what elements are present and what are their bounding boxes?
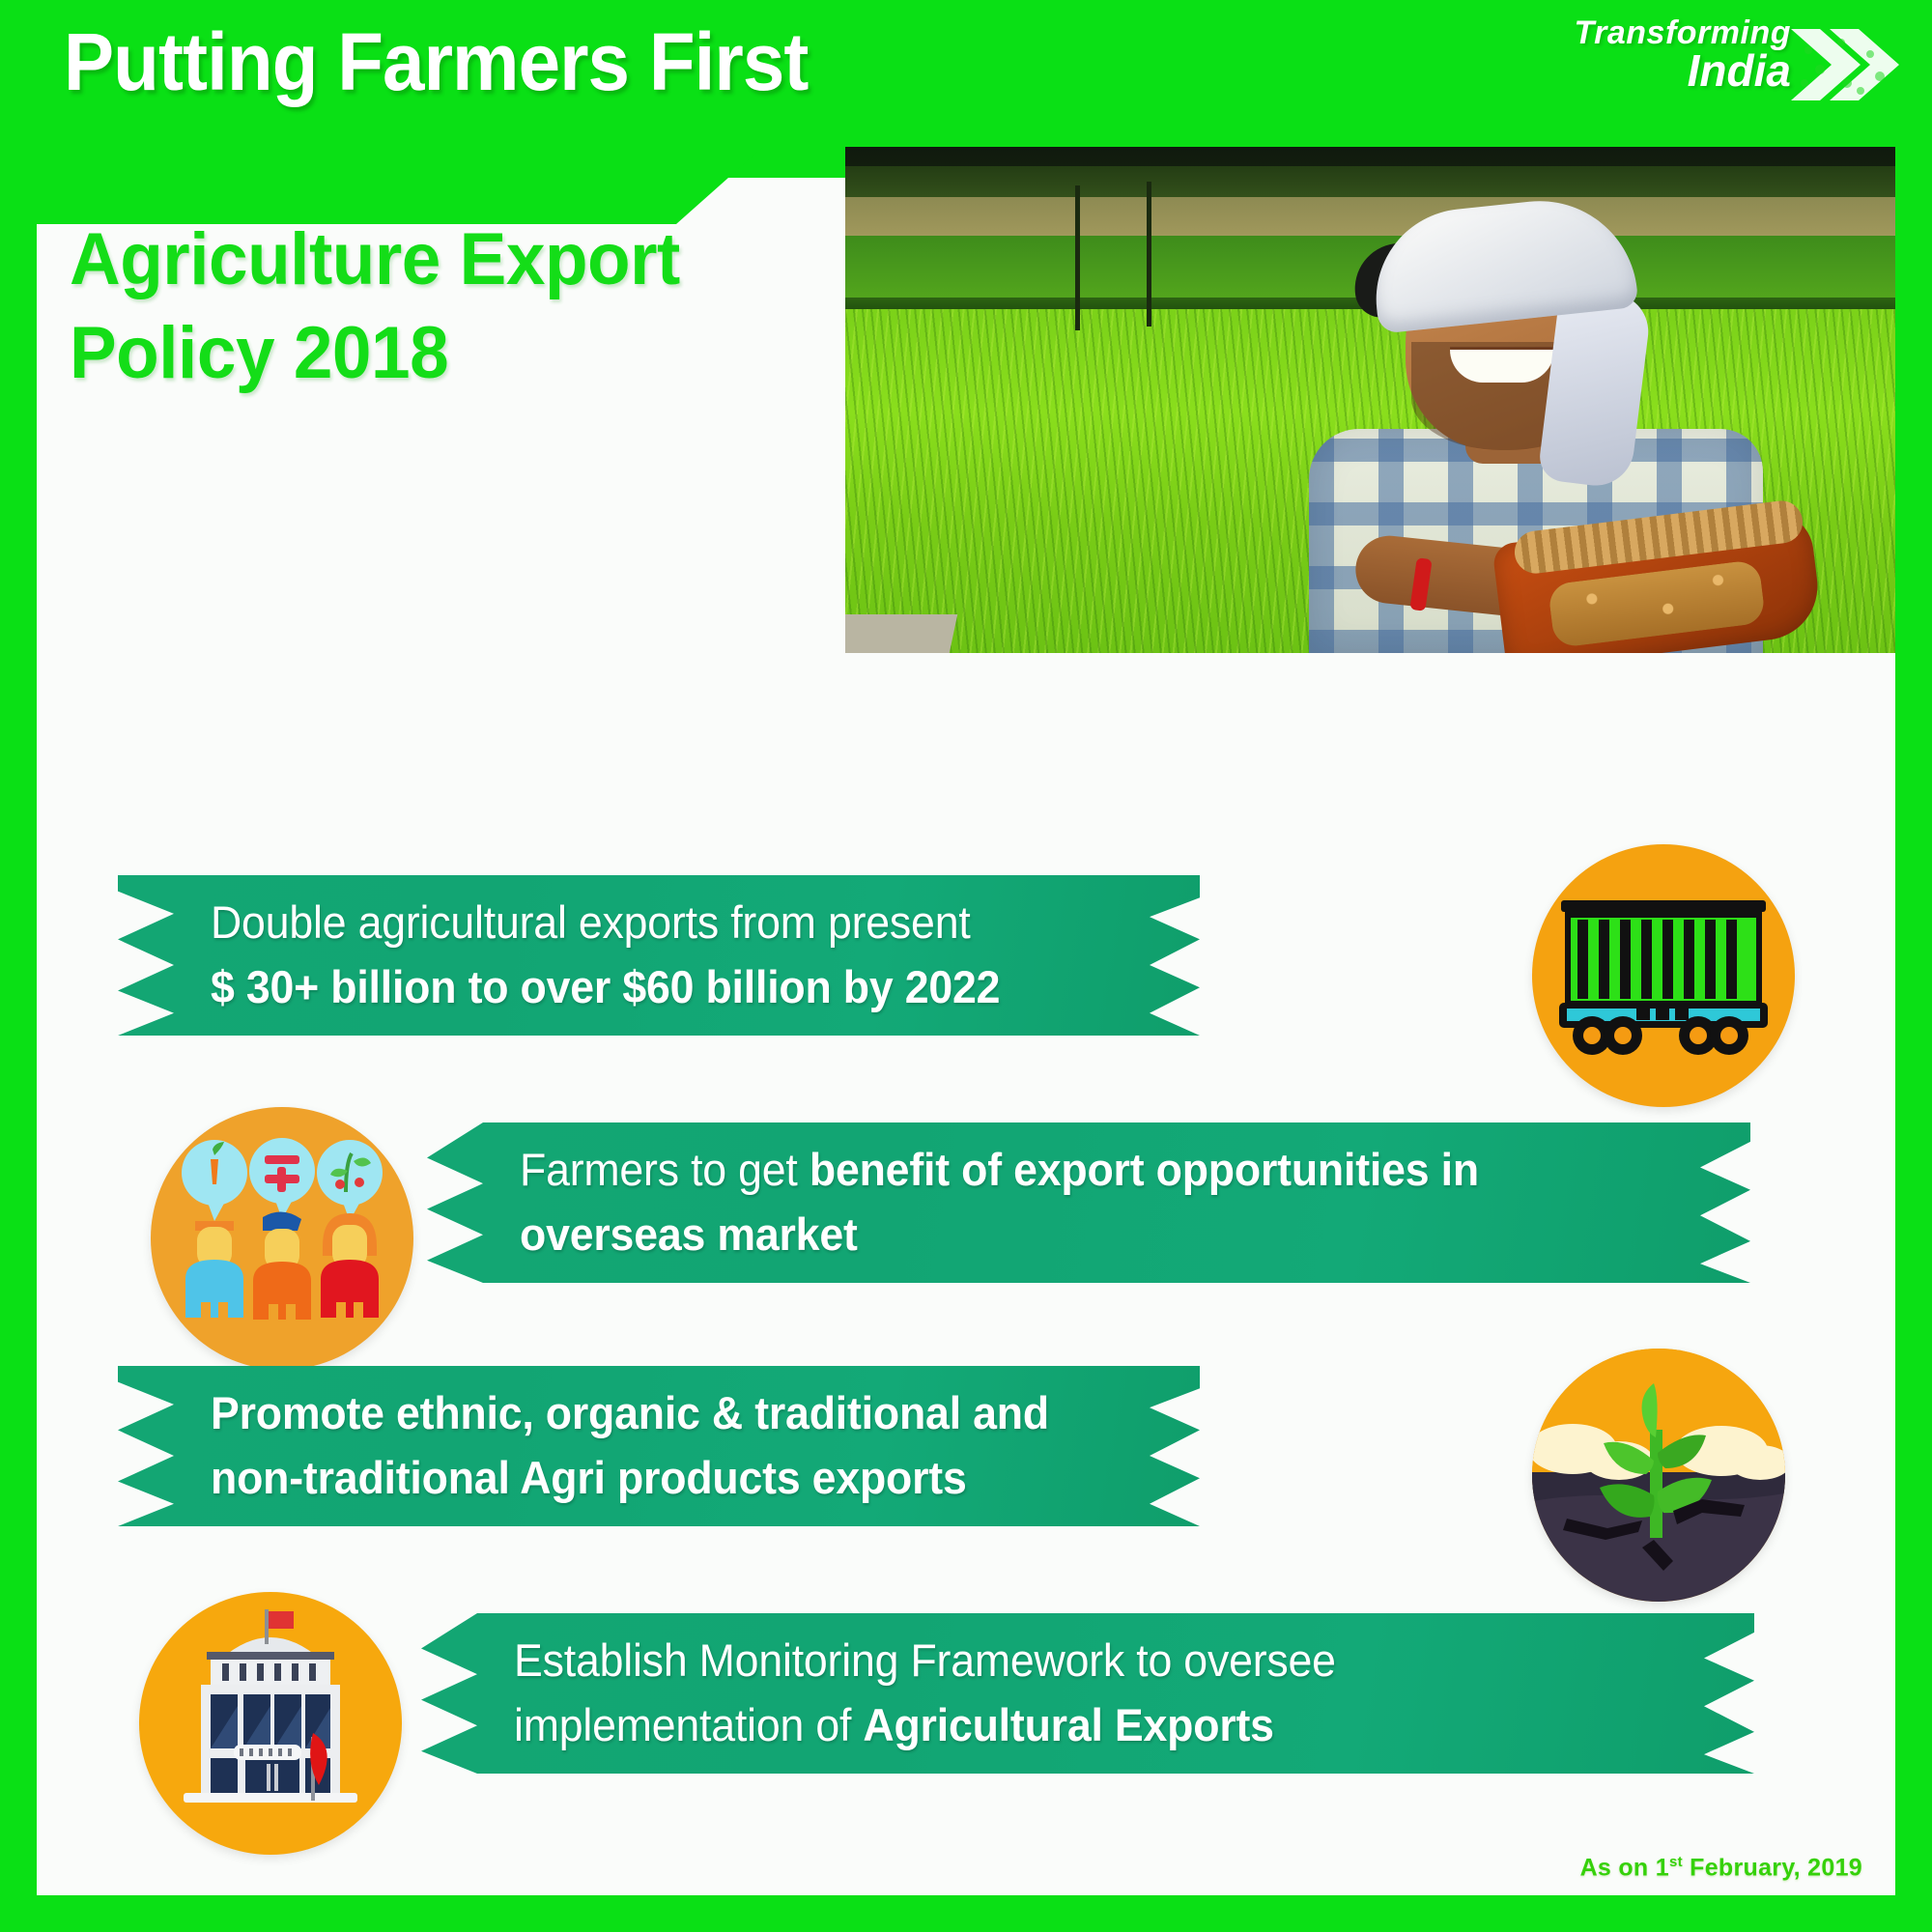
photo-pole-left xyxy=(1075,185,1080,330)
logo-text: Transforming India xyxy=(1574,17,1791,93)
photo-path xyxy=(845,614,957,653)
point-1-line-1: Double agricultural exports from present xyxy=(211,896,971,948)
point-2-plain: Farmers to get xyxy=(520,1144,810,1195)
footer-prefix: As on 1 xyxy=(1580,1854,1669,1881)
point-banner-2-text: Farmers to get benefit of export opportu… xyxy=(520,1138,1689,1266)
infographic-poster: Putting Farmers First Transforming India… xyxy=(0,0,1932,1932)
double-chevron-icon xyxy=(1787,23,1901,106)
point-1-line-2: $ 30+ billion to over $60 billion by 202… xyxy=(211,961,1000,1012)
logo-line-2: India xyxy=(1574,49,1791,93)
point-banner-1: Double agricultural exports from present… xyxy=(118,875,1200,1036)
point-banner-4-text: Establish Monitoring Framework to overse… xyxy=(514,1629,1692,1757)
point-banner-3: Promote ethnic, organic & traditional an… xyxy=(118,1366,1200,1526)
point-banner-4: Establish Monitoring Framework to overse… xyxy=(421,1613,1754,1774)
footer-suffix: February, 2019 xyxy=(1683,1854,1862,1881)
government-building-icon xyxy=(139,1592,402,1855)
photo-farmer-figure xyxy=(1261,187,1802,653)
farmers-group-icon xyxy=(151,1107,413,1370)
point-banner-3-text: Promote ethnic, organic & traditional an… xyxy=(211,1381,1151,1510)
farmer-smile xyxy=(1450,350,1554,383)
headline-line-2: Policy 2018 xyxy=(70,306,680,400)
policy-headline: Agriculture Export Policy 2018 xyxy=(70,213,680,401)
shipping-container-truck-icon xyxy=(1532,844,1795,1107)
transforming-india-logo: Transforming India xyxy=(1499,14,1905,116)
photo-pole-right xyxy=(1147,182,1151,327)
headline-line-1: Agriculture Export xyxy=(70,213,680,306)
as-on-date-note: As on 1st February, 2019 xyxy=(1580,1854,1862,1882)
farmer-photo xyxy=(845,147,1895,653)
sapling-soil-icon xyxy=(1532,1349,1785,1602)
point-3-bold: Promote ethnic, organic & traditional an… xyxy=(211,1387,1049,1503)
point-4-bold: Agricultural Exports xyxy=(863,1699,1273,1750)
point-banner-1-text: Double agricultural exports from present… xyxy=(211,891,1000,1019)
footer-ordinal: st xyxy=(1669,1854,1683,1870)
page-title: Putting Farmers First xyxy=(64,15,808,109)
logo-line-1: Transforming xyxy=(1574,17,1791,49)
point-banner-2: Farmers to get benefit of export opportu… xyxy=(427,1122,1750,1283)
